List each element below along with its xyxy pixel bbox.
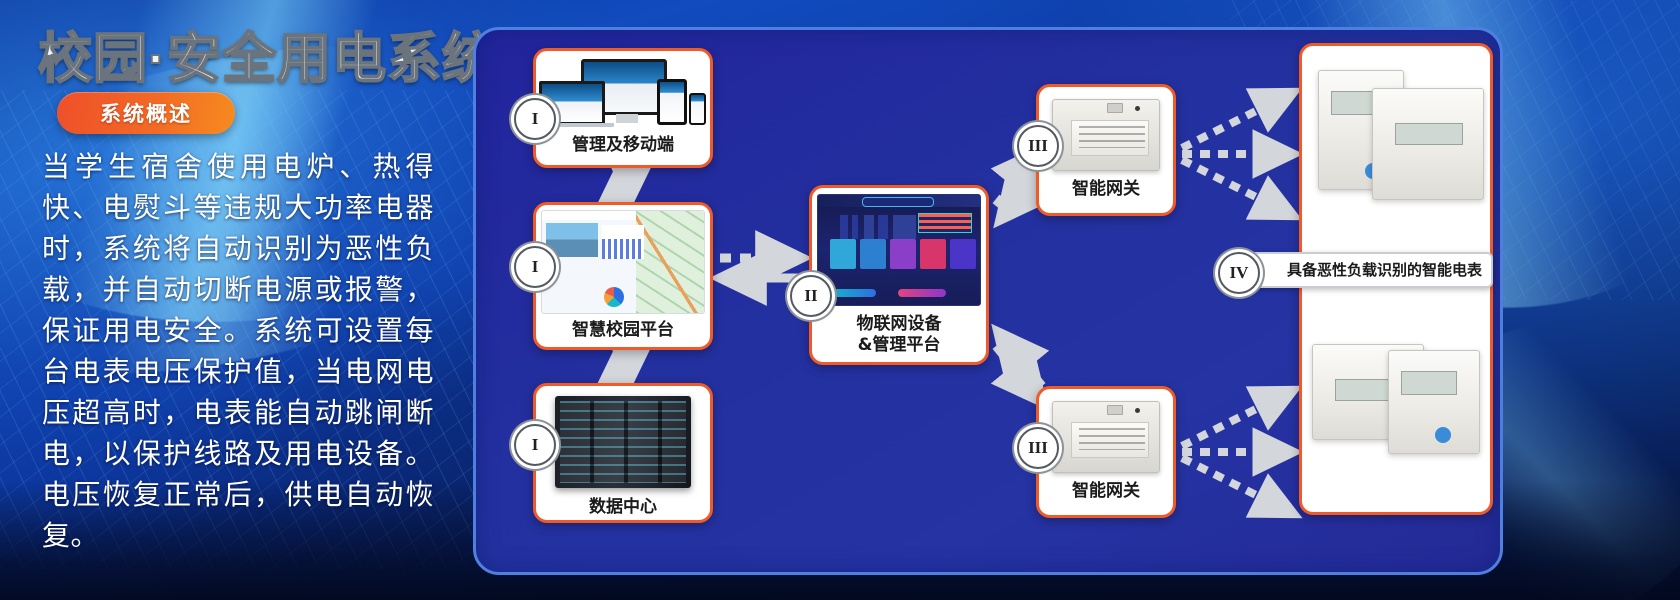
smart-meter-bottom-right — [1388, 350, 1480, 454]
campus-dashboard-screenshot — [541, 210, 705, 314]
meter-button-icon — [1435, 427, 1451, 443]
node-data-center[interactable]: 数据中心 — [533, 383, 713, 523]
phone-icon — [689, 93, 706, 125]
tile-5 — [950, 239, 976, 269]
meter-display-icon — [1395, 123, 1463, 145]
meter-note-callout[interactable]: 具备恶性负载识别的智能电表 — [1231, 252, 1493, 288]
gateway-device-icon — [1052, 401, 1160, 473]
roman-badge-meter-note: IV — [1218, 252, 1260, 294]
node-smart-campus-platform[interactable]: 智慧校园平台 — [533, 202, 713, 350]
roman-badge-campus: I — [514, 246, 556, 288]
pie-chart-thumb — [604, 287, 624, 307]
alert-panel-thumb — [918, 213, 972, 233]
node-admin-mobile[interactable]: 管理及移动端 — [533, 48, 713, 168]
usb-port-icon — [1107, 103, 1123, 113]
node-iot-management-platform[interactable]: 物联网设备 &管理平台 — [809, 185, 989, 365]
arrow-gateway-bottom-to-iot — [998, 332, 1042, 386]
device-label-print — [1079, 126, 1145, 148]
dashboard-header-bar — [818, 195, 980, 207]
meter-note-label: 具备恶性负载识别的智能电表 — [1287, 260, 1482, 281]
gateway-device-icon — [1052, 99, 1160, 171]
node-campus-label: 智慧校园平台 — [572, 320, 674, 341]
roman-badge-gateway-top: III — [1017, 125, 1059, 167]
tile-3 — [890, 239, 916, 269]
tile-1 — [830, 239, 856, 269]
dashboard-footer-chips — [828, 289, 946, 297]
node-gateway-bottom-label: 智能网关 — [1072, 481, 1140, 502]
smart-meter-top-right — [1372, 88, 1484, 200]
device-label-print — [1079, 428, 1145, 450]
arrow-iot-to-gateway-bottom — [996, 346, 1042, 402]
tile-2 — [860, 239, 886, 269]
overview-body-text: 当学生宿舍使用电炉、热得快、电熨斗等违规大功率电器时，系统将自动识别为恶性负载，… — [42, 146, 434, 556]
bar-chart-thumb — [602, 225, 644, 259]
chip-1 — [828, 289, 876, 297]
status-led-icon — [1135, 106, 1140, 111]
node-iot-label-line1: 物联网设备 — [857, 314, 942, 335]
node-admin-label: 管理及移动端 — [572, 135, 674, 156]
roman-badge-admin: I — [514, 98, 556, 140]
city-skyline-graphic — [840, 215, 916, 239]
overview-badge-label: 系统概述 — [100, 98, 192, 128]
usb-port-icon — [1107, 405, 1123, 415]
roman-badge-gateway-bottom: III — [1017, 427, 1059, 469]
roman-badge-datacenter: I — [514, 424, 556, 466]
architecture-diagram-panel: 管理及移动端 I 智慧校园平台 I 数据中心 I — [473, 27, 1503, 575]
arrow-gateway-bottom-to-meter-a — [1182, 390, 1294, 446]
tile-4 — [920, 239, 946, 269]
poster-canvas: 校园·安全用电系统 系统概述 当学生宿舍使用电炉、热得快、电熨斗等违规大功率电器… — [0, 0, 1680, 600]
admin-devices-illustration — [537, 57, 709, 135]
node-datacenter-label: 数据中心 — [589, 497, 657, 518]
arrow-gateway-top-to-meter-a — [1182, 92, 1294, 148]
node-iot-label-line2: &管理平台 — [858, 335, 941, 356]
tablet-icon — [657, 79, 687, 125]
arrow-gateway-top-to-meter-c — [1182, 160, 1294, 216]
meter-display-icon — [1401, 371, 1457, 395]
status-led-icon — [1135, 408, 1140, 413]
dashboard-tiles — [830, 239, 976, 269]
roman-badge-iot: II — [790, 275, 832, 317]
overview-badge: 系统概述 — [57, 92, 235, 134]
intro-column: 校园·安全用电系统 系统概述 当学生宿舍使用电炉、热得快、电熨斗等违规大功率电器… — [0, 0, 470, 600]
server-rack-icon — [555, 396, 691, 488]
iot-dashboard-screenshot — [817, 194, 981, 306]
arrow-gateway-bottom-to-meter-c — [1182, 458, 1294, 514]
page-title: 校园·安全用电系统 — [38, 14, 497, 93]
chip-2 — [898, 289, 946, 297]
node-gateway-top-label: 智能网关 — [1072, 179, 1140, 200]
